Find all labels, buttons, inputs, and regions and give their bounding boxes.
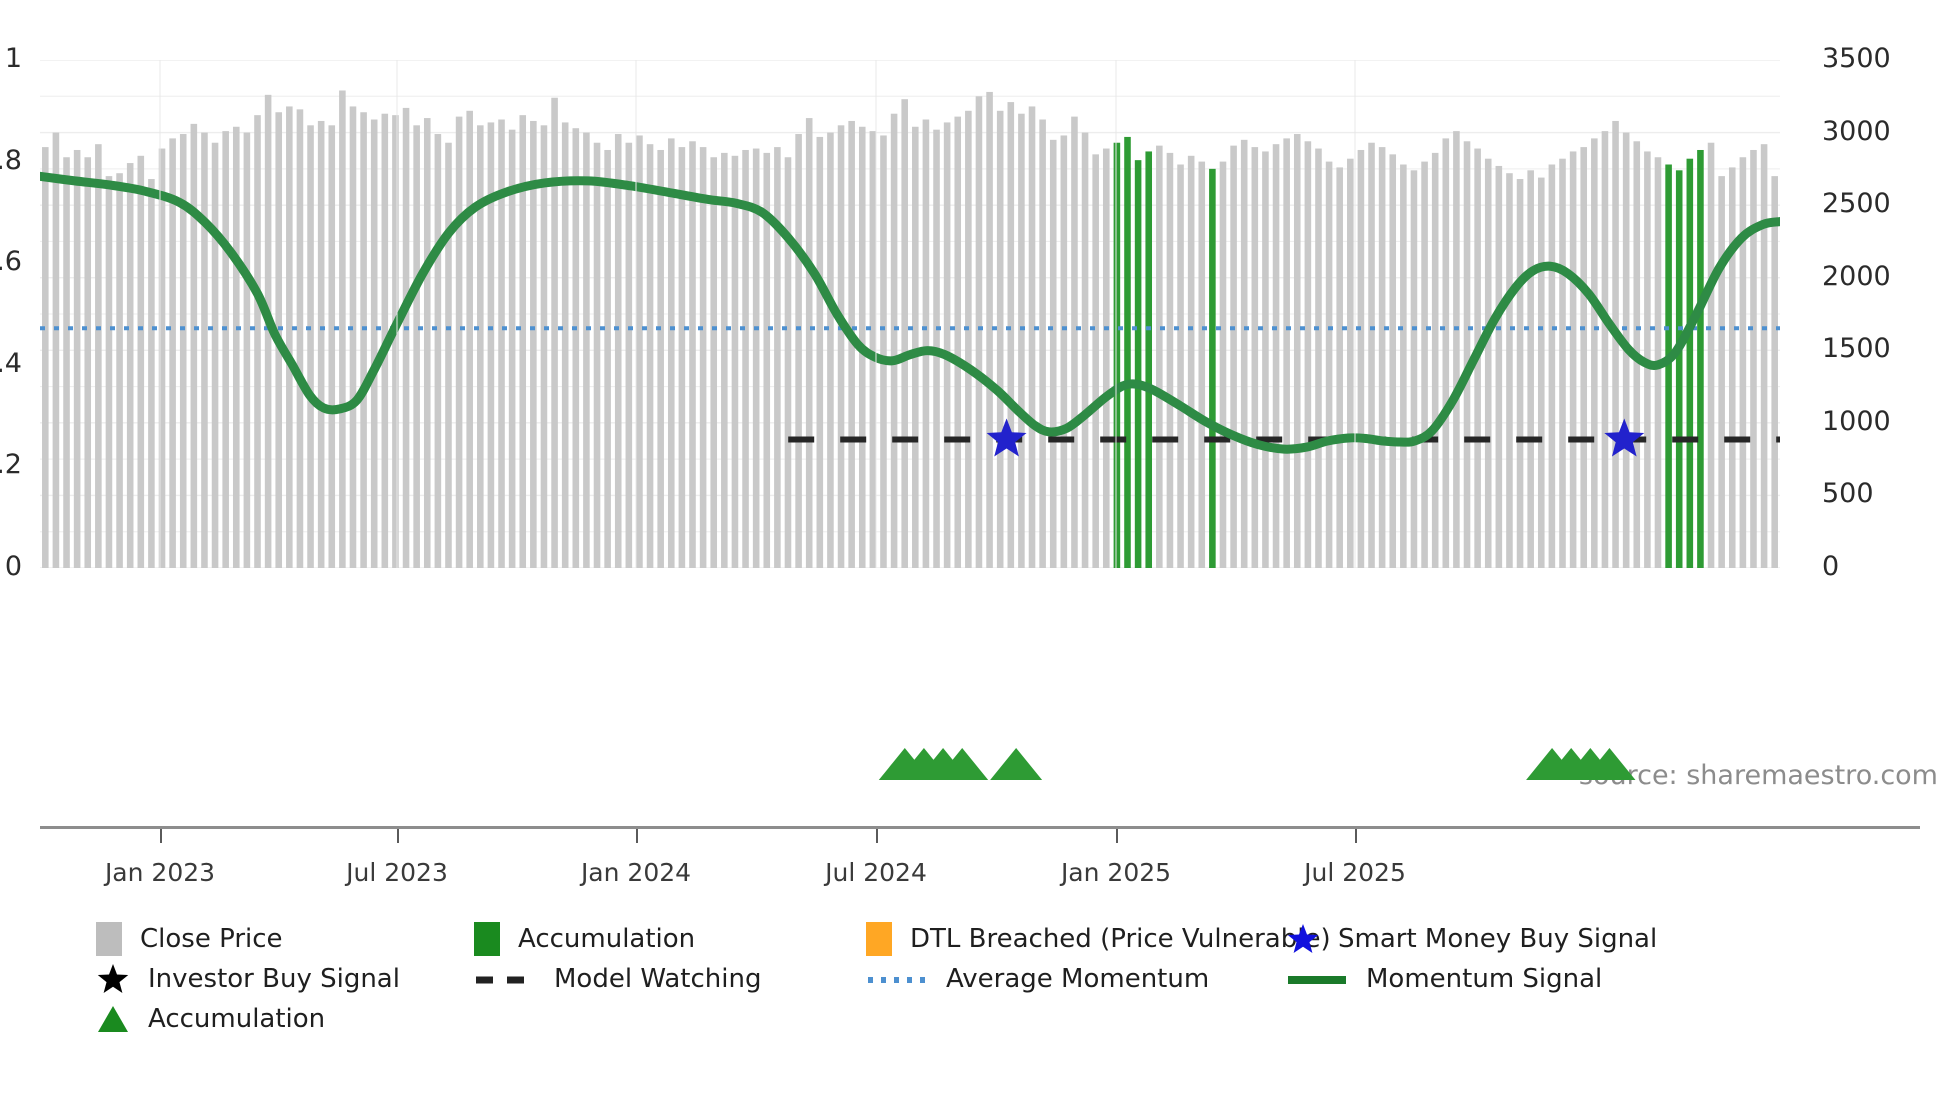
x-axis-tick: [1116, 829, 1118, 843]
right-axis-tick: 3000: [1822, 116, 1891, 147]
plot-svg: [40, 60, 1780, 568]
legend-star-icon: [1286, 922, 1320, 956]
legend-star-icon: [96, 962, 130, 996]
x-axis-tick-label: Jan 2025: [1026, 858, 1206, 887]
legend-item-label: Accumulation: [148, 1004, 325, 1034]
left-axis-tick: 0.8: [0, 145, 22, 176]
legend-square-swatch-icon: [96, 922, 122, 956]
legend-triangle-icon: [96, 1002, 130, 1036]
left-axis-tick: 0: [5, 551, 22, 582]
x-axis-tick: [160, 829, 162, 843]
legend-item-label: Close Price: [140, 924, 283, 954]
right-axis-tick: 2500: [1822, 188, 1891, 219]
x-axis-tick: [876, 829, 878, 843]
legend-item[interactable]: Close Price: [96, 922, 283, 956]
legend-item-label: DTL Breached (Price Vulnerable): [910, 924, 1331, 954]
legend-item-label: Accumulation: [518, 924, 695, 954]
legend-square-swatch-icon: [866, 922, 892, 956]
x-axis-tick: [1355, 829, 1357, 843]
legend-item[interactable]: Investor Buy Signal: [96, 962, 400, 996]
x-axis-tick-label: Jan 2024: [546, 858, 726, 887]
right-axis-tick: 2000: [1822, 261, 1891, 292]
legend-dashed-line-icon: [474, 962, 536, 996]
legend-row: Close PriceAccumulationDTL Breached (Pri…: [96, 922, 1936, 962]
legend-square-swatch-icon: [474, 922, 500, 956]
x-axis-tick-label: Jul 2025: [1265, 858, 1445, 887]
legend-item[interactable]: Accumulation: [474, 922, 695, 956]
legend-item[interactable]: Smart Money Buy Signal: [1286, 922, 1657, 956]
legend-item[interactable]: Momentum Signal: [1286, 962, 1602, 996]
x-axis-tick-label: Jan 2023: [70, 858, 250, 887]
plot-area: [40, 60, 1780, 568]
x-axis-line: [40, 826, 1920, 829]
legend-item[interactable]: Accumulation: [96, 1002, 325, 1036]
legend-item-label: Smart Money Buy Signal: [1338, 924, 1657, 954]
legend-item-label: Model Watching: [554, 964, 761, 994]
x-axis-tick: [636, 829, 638, 843]
left-axis-tick: 0.4: [0, 348, 22, 379]
chart-legend: Close PriceAccumulationDTL Breached (Pri…: [96, 922, 1936, 1042]
right-axis-tick: 1500: [1822, 333, 1891, 364]
legend-item[interactable]: DTL Breached (Price Vulnerable): [866, 922, 1331, 956]
legend-item[interactable]: Model Watching: [474, 962, 761, 996]
legend-item-label: Momentum Signal: [1366, 964, 1602, 994]
legend-row: Accumulation: [96, 1002, 1936, 1042]
legend-row: Investor Buy SignalModel WatchingAverage…: [96, 962, 1936, 1002]
right-axis-tick: 500: [1822, 478, 1874, 509]
legend-item-label: Average Momentum: [946, 964, 1209, 994]
legend-solid-line-icon: [1286, 962, 1348, 996]
legend-item[interactable]: Average Momentum: [866, 962, 1209, 996]
right-axis-tick: 3500: [1822, 43, 1891, 74]
left-axis-tick: 0.6: [0, 246, 22, 277]
left-axis-tick: 0.2: [0, 449, 22, 480]
x-axis-tick: [397, 829, 399, 843]
right-axis-tick: 1000: [1822, 406, 1891, 437]
right-axis-tick: 0: [1822, 551, 1839, 582]
legend-dotted-line-icon: [866, 962, 928, 996]
x-axis-tick-label: Jul 2023: [307, 858, 487, 887]
legend-item-label: Investor Buy Signal: [148, 964, 400, 994]
x-axis-tick-label: Jul 2024: [786, 858, 966, 887]
chart-page: 10.80.60.40.20 3500300025002000150010005…: [0, 0, 1960, 1102]
left-axis-tick: 1: [5, 43, 22, 74]
